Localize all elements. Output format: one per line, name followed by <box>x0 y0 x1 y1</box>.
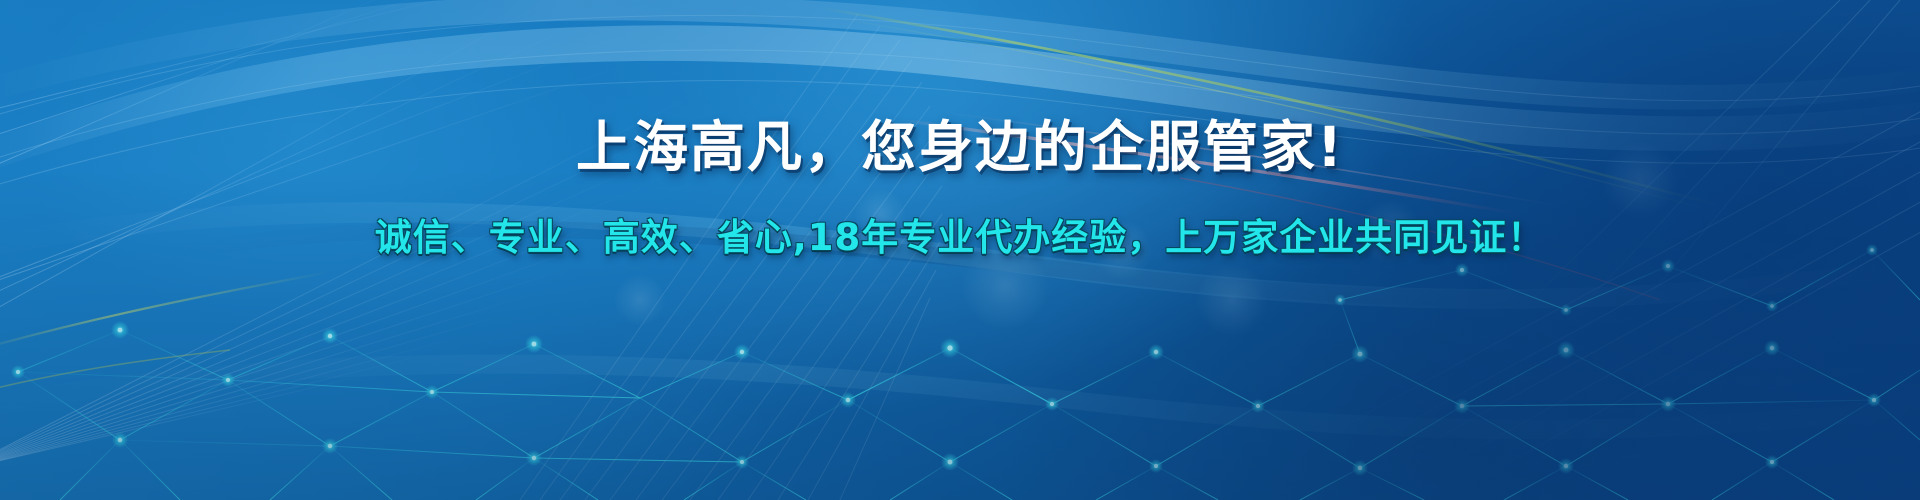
banner-text-block: 上海高凡，您身边的企服管家! 诚信、专业、高效、省心,18年专业代办经验，上万家… <box>0 0 1920 500</box>
banner-subheadline: 诚信、专业、高效、省心,18年专业代办经验，上万家企业共同见证！ <box>375 207 1546 261</box>
hero-banner: 上海高凡，您身边的企服管家! 诚信、专业、高效、省心,18年专业代办经验，上万家… <box>0 0 1920 500</box>
banner-headline: 上海高凡，您身边的企服管家! <box>576 118 1344 177</box>
